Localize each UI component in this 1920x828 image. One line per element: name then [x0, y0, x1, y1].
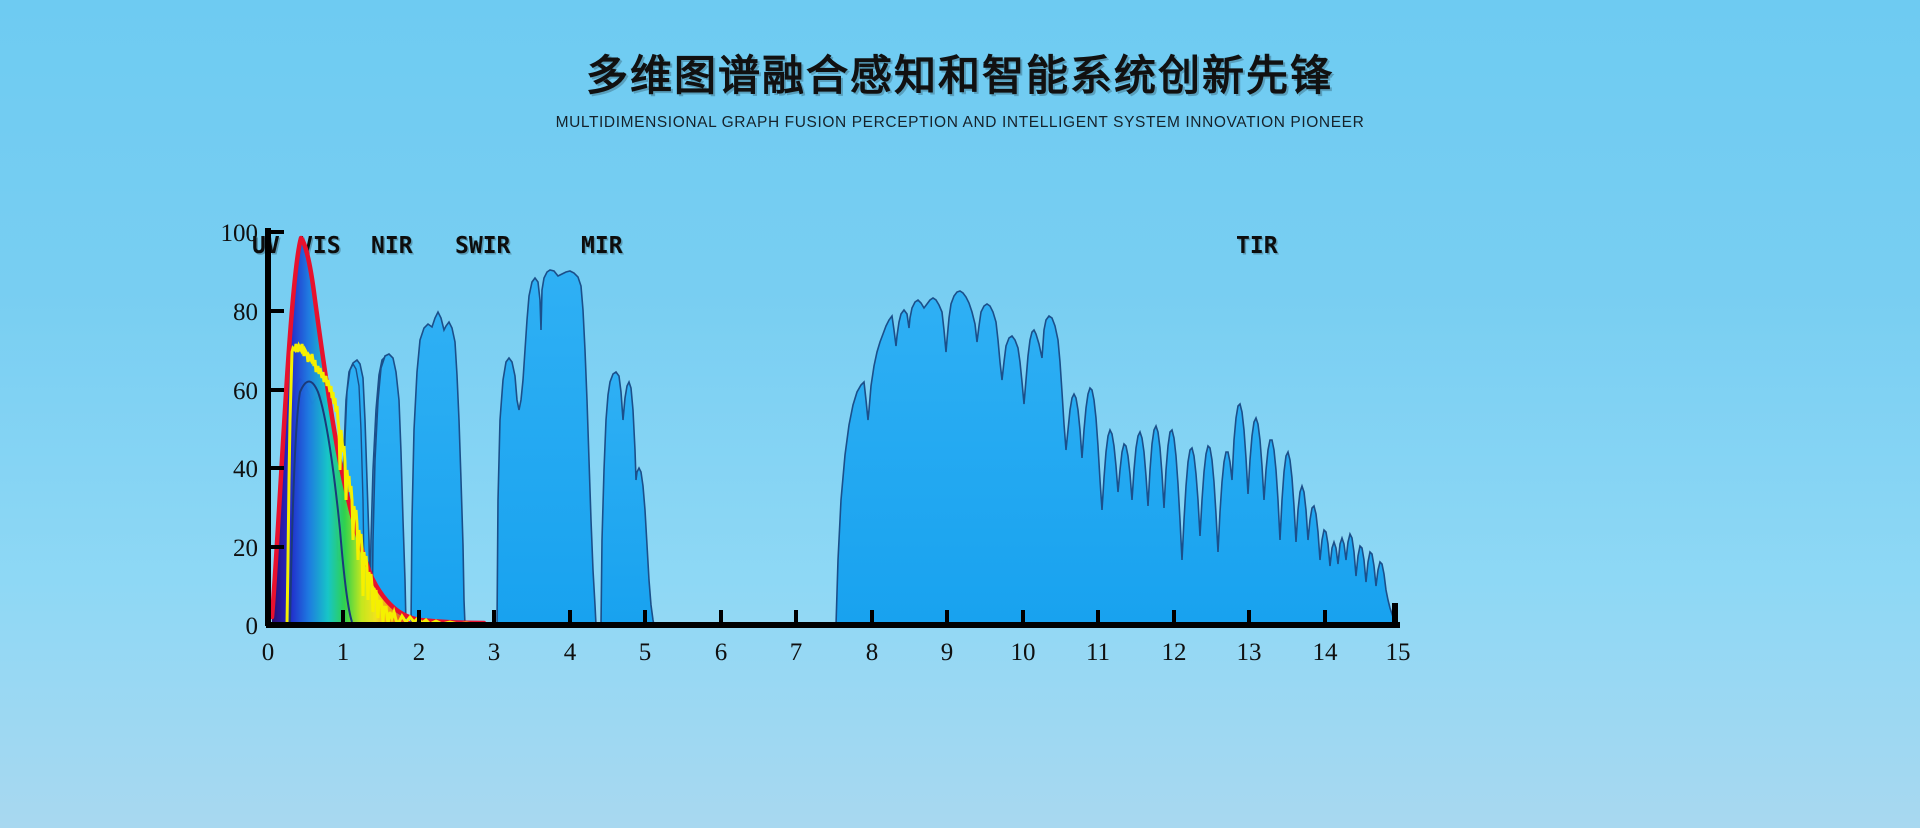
x-tick-label-1: 1 [337, 639, 350, 666]
x-tick-label-11: 11 [1086, 639, 1110, 666]
x-tick-label-12: 12 [1162, 639, 1187, 666]
spectrum-chart: 100 80 60 40 20 0 0 1 2 3 4 5 6 7 8 9 10… [0, 0, 1920, 828]
y-tick-label-40: 40 [233, 456, 258, 483]
x-tick-label-0: 0 [262, 639, 275, 666]
band-area-tir-window [836, 291, 1397, 625]
x-tick-label-2: 2 [413, 639, 426, 666]
x-tick-label-15: 15 [1386, 639, 1411, 666]
y-tick-label-20: 20 [233, 535, 258, 562]
y-tick-label-0: 0 [246, 613, 259, 640]
y-tick-label-80: 80 [233, 299, 258, 326]
x-tick-label-7: 7 [790, 639, 803, 666]
band-area-swir-window [411, 312, 465, 625]
x-tick-label-13: 13 [1237, 639, 1262, 666]
x-tick-label-9: 9 [941, 639, 954, 666]
y-tick-label-60: 60 [233, 378, 258, 405]
x-tick-label-10: 10 [1011, 639, 1036, 666]
y-tick-label-100: 100 [221, 220, 259, 247]
band-area-mir-window [497, 270, 596, 625]
band-area-mir-window-2 [601, 372, 654, 625]
poster-canvas: 多维图谱融合感知和智能系统创新先锋 MULTIDIMENSIONAL GRAPH… [0, 0, 1920, 828]
x-tick-label-3: 3 [488, 639, 501, 666]
x-tick-label-14: 14 [1313, 639, 1339, 666]
x-tick-label-8: 8 [866, 639, 879, 666]
x-tick-label-4: 4 [564, 639, 577, 666]
transmission-bands [290, 270, 1397, 625]
x-tick-label-5: 5 [639, 639, 652, 666]
x-tick-label-6: 6 [715, 639, 728, 666]
